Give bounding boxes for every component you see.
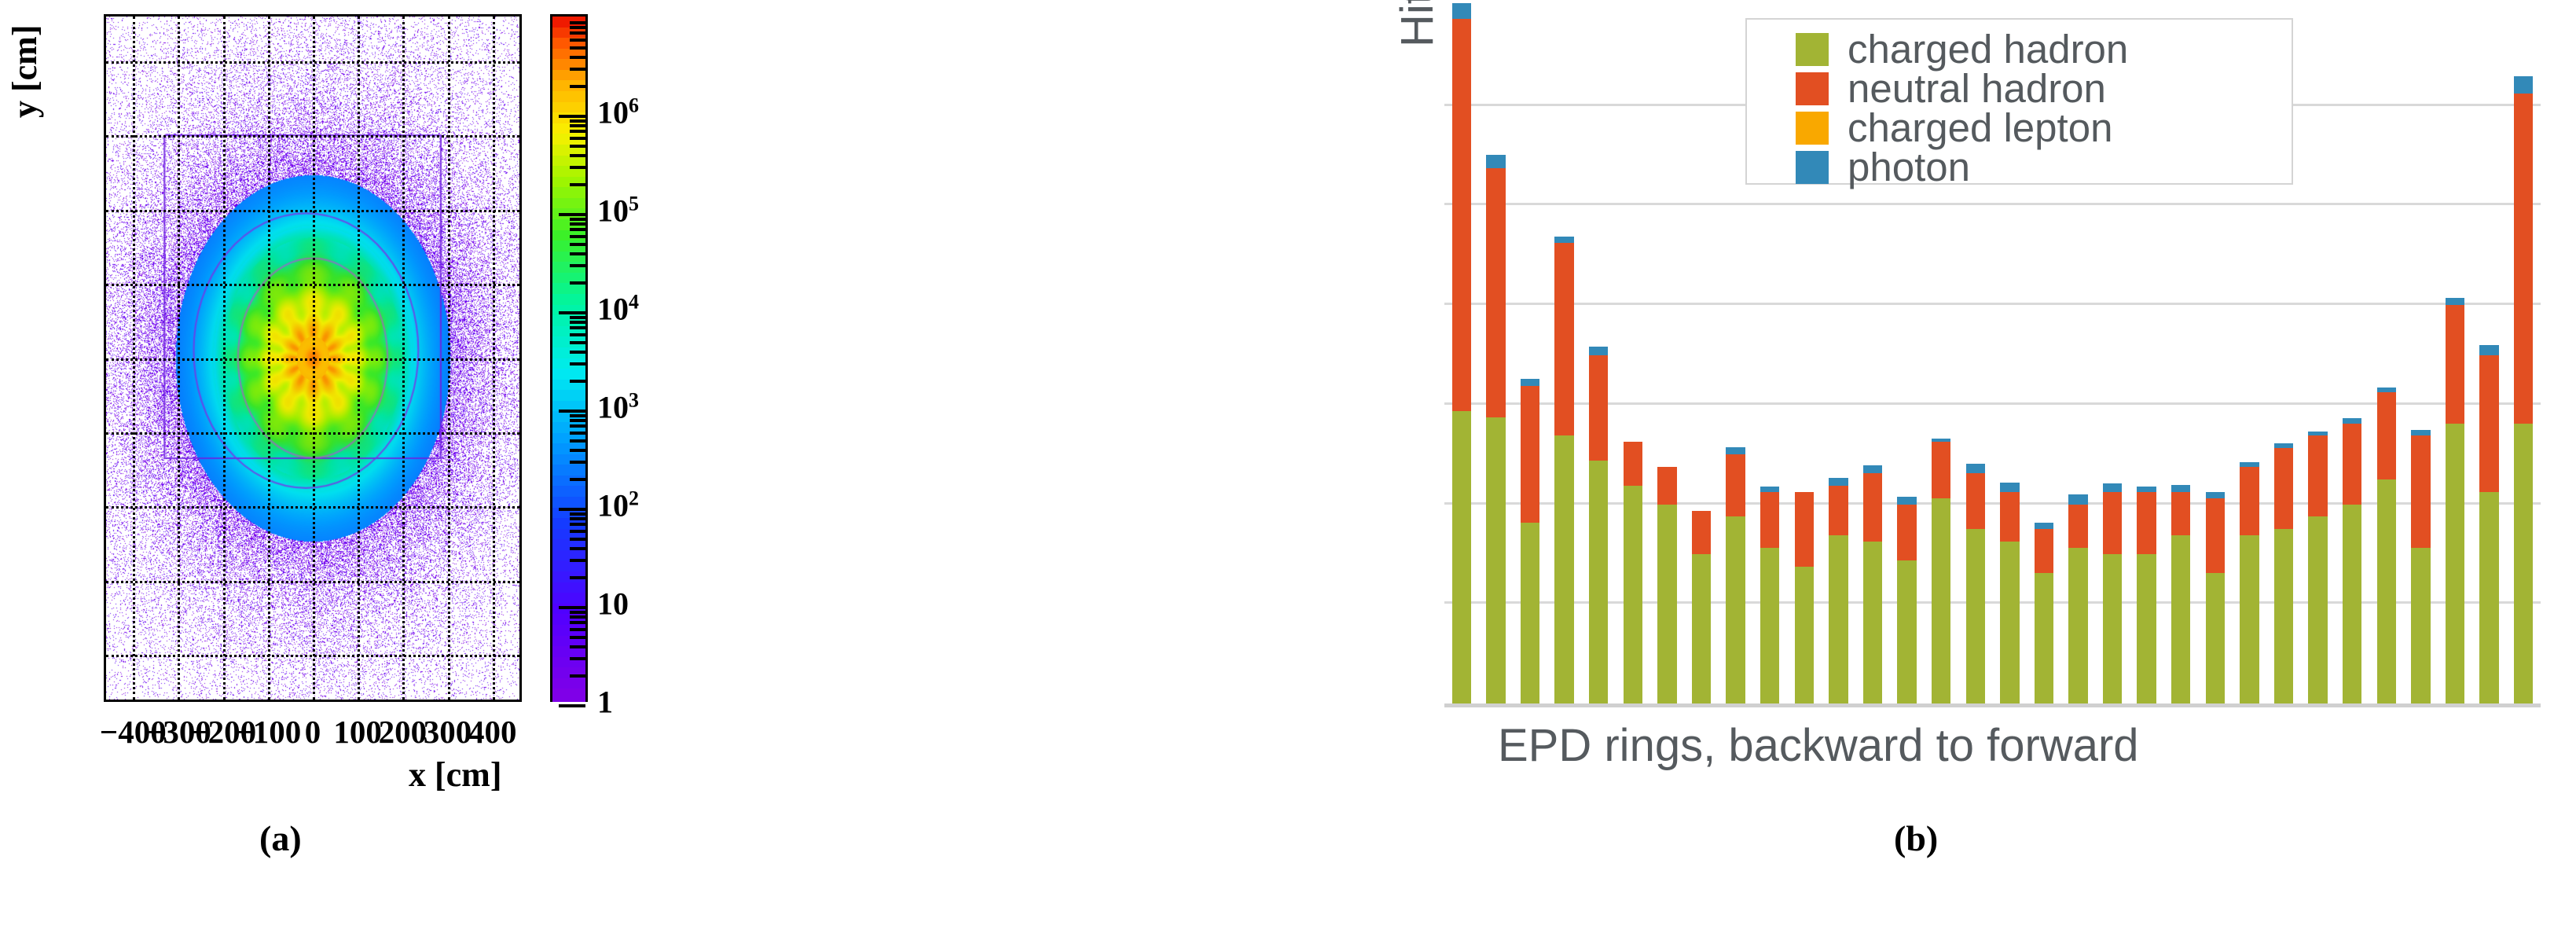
- colorbar-tick-minor: [570, 56, 585, 59]
- bar-segment-charged-hadron: [2479, 492, 2498, 703]
- colorbar-tick-minor: [570, 222, 585, 226]
- bar-segment-neutral-hadron: [2171, 492, 2190, 535]
- grid-line-v: [358, 17, 360, 700]
- bar-segment-neutral-hadron: [2308, 435, 2327, 516]
- colorbar-tick-minor: [570, 351, 585, 354]
- panel-b-y-axis-title: Hits by primary [a.u.]: [1391, 0, 1444, 47]
- colorbar-tick-minor: [570, 228, 585, 231]
- bar-segment-charged-hadron: [2035, 573, 2053, 703]
- bar-segment-photon: [1726, 447, 1745, 455]
- stacked-bar: [2377, 388, 2396, 703]
- grid-line-v: [268, 17, 270, 700]
- colorbar-tick-minor: [570, 21, 585, 24]
- bar-segment-neutral-hadron: [2103, 492, 2122, 554]
- colorbar-tick-minor: [570, 628, 585, 631]
- grid-line-v: [313, 17, 315, 700]
- stacked-bar: [2171, 485, 2190, 703]
- bar-segment-neutral-hadron: [1657, 467, 1676, 505]
- stacked-bar: [1452, 3, 1471, 703]
- bar-slot: [1684, 6, 1719, 703]
- bar-segment-charged-hadron: [2137, 554, 2156, 703]
- colorbar-tick-minor: [570, 517, 585, 520]
- bar-slot: [1616, 6, 1650, 703]
- bar-segment-charged-hadron: [2068, 548, 2087, 703]
- bar-segment-neutral-hadron: [1966, 473, 1985, 529]
- colorbar-tick-minor: [570, 419, 585, 422]
- legend-item-charged-hadron: charged hadron: [1796, 31, 2292, 68]
- colorbar-tick-major: [559, 311, 585, 314]
- bar-segment-neutral-hadron: [2479, 355, 2498, 492]
- figure-root: y [cm] x [cm] 4003002001000−100−200−300−…: [0, 0, 2576, 933]
- grid-line-v: [178, 17, 180, 700]
- bar-segment-charged-hadron: [1521, 523, 1539, 703]
- colorbar-tick-minor: [570, 439, 585, 443]
- stacked-bar: [2000, 483, 2019, 703]
- colorbar-tick-minor: [570, 326, 585, 329]
- bar-segment-neutral-hadron: [2000, 492, 2019, 542]
- legend-item-charged-lepton: charged lepton: [1796, 109, 2292, 146]
- colorbar-tick-major: [559, 410, 585, 413]
- grid-line-v: [448, 17, 450, 700]
- colorbar-tick-minor: [570, 145, 585, 148]
- stacked-bar: [2240, 462, 2259, 703]
- bar-slot: [2301, 6, 2336, 703]
- bar-segment-photon: [2479, 345, 2498, 355]
- bar-segment-charged-hadron: [2103, 554, 2122, 703]
- stacked-bar: [1554, 237, 1573, 703]
- bar-segment-neutral-hadron: [1452, 19, 1471, 411]
- colorbar-tick-minor: [570, 530, 585, 533]
- bar-segment-charged-hadron: [1554, 435, 1573, 703]
- bar-segment-charged-hadron: [1932, 498, 1950, 703]
- colorbar-tick-label: 103: [597, 388, 639, 425]
- bar-slot: [2438, 6, 2472, 703]
- stacked-bar: [2446, 298, 2464, 703]
- bar-segment-charged-hadron: [2274, 529, 2293, 703]
- colorbar-tick-minor: [570, 333, 585, 336]
- bar-segment-photon: [2103, 483, 2122, 492]
- bar-segment-charged-hadron: [1966, 529, 1985, 703]
- bar-segment-charged-hadron: [2171, 535, 2190, 703]
- bar-segment-charged-hadron: [1692, 554, 1711, 703]
- stacked-bar: [1726, 447, 1745, 703]
- stacked-bar: [2274, 443, 2293, 703]
- legend-swatch-charged-hadron: [1796, 33, 1829, 66]
- colorbar-tick-minor: [570, 380, 585, 383]
- bar-segment-neutral-hadron: [1692, 511, 1711, 554]
- grid-line-v: [223, 17, 226, 700]
- colorbar-tick-label: 105: [597, 192, 639, 229]
- colorbar-tick-minor: [570, 243, 585, 246]
- stacked-bar: [2479, 345, 2498, 703]
- bar-segment-neutral-hadron: [1726, 454, 1745, 516]
- bar-segment-photon: [2411, 430, 2430, 436]
- bar-segment-neutral-hadron: [2446, 305, 2464, 423]
- colorbar-tick-minor: [570, 645, 585, 648]
- bar-segment-photon: [2137, 487, 2156, 492]
- bar-segment-charged-hadron: [1726, 516, 1745, 703]
- colorbar-tick-label: 1: [597, 684, 613, 721]
- legend-item-photon: photon: [1796, 149, 2292, 185]
- bar-segment-neutral-hadron: [2068, 505, 2087, 548]
- bar-segment-photon: [1966, 464, 1985, 473]
- bar-segment-neutral-hadron: [2206, 498, 2225, 573]
- bar-slot: [1650, 6, 1685, 703]
- x-tick-label: 400: [468, 713, 517, 751]
- panel-b-legend: charged hadron neutral hadron charged le…: [1745, 18, 2293, 185]
- bar-segment-neutral-hadron: [2514, 94, 2533, 424]
- colorbar-tick-minor: [570, 235, 585, 238]
- stacked-bar: [1966, 464, 1985, 703]
- colorbar-tick-major: [559, 606, 585, 609]
- colorbar-tick-minor: [570, 154, 585, 157]
- bar-segment-photon: [2171, 485, 2190, 492]
- bar-segment-neutral-hadron: [1486, 168, 1505, 417]
- x-tick-label: −100: [234, 713, 301, 751]
- bar-segment-photon: [1452, 3, 1471, 19]
- bar-segment-photon: [1486, 155, 1505, 168]
- stacked-bar: [1521, 379, 1539, 703]
- bar-segment-charged-hadron: [1795, 567, 1814, 703]
- colorbar-tick-minor: [570, 183, 585, 186]
- stacked-bar: [2343, 418, 2361, 703]
- stacked-bar: [1589, 347, 1608, 703]
- stacked-bar: [1657, 467, 1676, 703]
- bar-segment-charged-hadron: [2240, 535, 2259, 703]
- bar-segment-neutral-hadron: [1521, 386, 1539, 523]
- bar-segment-neutral-hadron: [2035, 529, 2053, 572]
- colorbar-tick-major: [559, 704, 585, 707]
- stacked-bar: [1897, 497, 1916, 703]
- bar-slot: [1547, 6, 1582, 703]
- colorbar-tick-minor: [570, 362, 585, 365]
- bar-segment-charged-hadron: [1829, 535, 1848, 703]
- bar-segment-neutral-hadron: [2240, 467, 2259, 535]
- bar-slot: [2404, 6, 2438, 703]
- bar-segment-charged-hadron: [2308, 516, 2327, 703]
- colorbar-tick-minor: [570, 657, 585, 660]
- colorbar-tick-minor: [570, 39, 585, 42]
- bar-segment-charged-hadron: [1624, 486, 1642, 703]
- bar-segment-charged-hadron: [2000, 542, 2019, 703]
- stacked-bar: [2514, 76, 2533, 703]
- stacked-bar: [1863, 465, 1882, 703]
- colorbar-tick-minor: [570, 461, 585, 464]
- bar-slot: [1581, 6, 1616, 703]
- colorbar-tick-minor: [570, 31, 585, 35]
- colorbar-tick-minor: [570, 130, 585, 133]
- bar-segment-photon: [1897, 497, 1916, 505]
- colorbar-tick-minor: [570, 68, 585, 71]
- colorbar-tick-major: [559, 115, 585, 118]
- legend-swatch-photon: [1796, 151, 1829, 184]
- legend-swatch-charged-lepton: [1796, 112, 1829, 145]
- bar-segment-neutral-hadron: [1624, 442, 1642, 485]
- bar-segment-charged-hadron: [1657, 505, 1676, 703]
- colorbar-tick-minor: [570, 674, 585, 678]
- bar-slot: [2369, 6, 2404, 703]
- legend-item-neutral-hadron: neutral hadron: [1796, 70, 2292, 107]
- legend-swatch-neutral-hadron: [1796, 72, 1829, 105]
- stacked-bar: [2308, 432, 2327, 703]
- panel-b-plot-area: charged hadron neutral hadron charged le…: [1444, 6, 2541, 707]
- bar-segment-neutral-hadron: [1589, 355, 1608, 461]
- bar-segment-photon: [1589, 347, 1608, 354]
- colorbar-tick-minor: [570, 523, 585, 526]
- bar-segment-photon: [1554, 237, 1573, 243]
- colorbar-tick-minor: [570, 264, 585, 267]
- bar-segment-neutral-hadron: [2411, 435, 2430, 548]
- colorbar-tick-minor: [570, 252, 585, 255]
- bar-segment-neutral-hadron: [1897, 505, 1916, 560]
- bar-segment-neutral-hadron: [1932, 442, 1950, 498]
- legend-label-photon: photon: [1848, 144, 1970, 190]
- colorbar-tick-minor: [570, 432, 585, 435]
- colorbar-tick-label: 102: [597, 487, 639, 523]
- colorbar-tick-minor: [570, 621, 585, 624]
- bar-segment-charged-hadron: [1452, 411, 1471, 703]
- colorbar-tick-minor: [570, 559, 585, 562]
- grid-line-v: [493, 17, 495, 700]
- colorbar-tick-minor: [570, 636, 585, 639]
- bar-segment-charged-hadron: [2343, 505, 2361, 703]
- colorbar-tick-minor: [570, 611, 585, 614]
- bar-segment-photon: [2206, 492, 2225, 498]
- bar-segment-neutral-hadron: [2343, 424, 2361, 505]
- bar-segment-charged-hadron: [2446, 424, 2464, 703]
- bar-segment-neutral-hadron: [1760, 492, 1779, 548]
- bar-segment-neutral-hadron: [1829, 486, 1848, 535]
- panel-b: Hits by primary [a.u.] charged hadron ne…: [1273, 0, 2576, 933]
- stacked-bar: [1932, 439, 1950, 703]
- bar-segment-photon: [2068, 494, 2087, 505]
- stacked-bar: [2103, 483, 2122, 703]
- stacked-bar: [2411, 430, 2430, 703]
- bar-segment-charged-hadron: [1589, 461, 1608, 703]
- bar-segment-photon: [2035, 523, 2053, 529]
- colorbar-tick-minor: [570, 26, 585, 29]
- colorbar-tick-label: 104: [597, 290, 639, 327]
- x-tick-label: 0: [305, 713, 321, 751]
- colorbar-tick-minor: [570, 547, 585, 550]
- colorbar-tick-minor: [570, 85, 585, 88]
- bar-slot: [1513, 6, 1547, 703]
- bar-segment-photon: [1521, 379, 1539, 387]
- bar-segment-charged-hadron: [1863, 542, 1882, 703]
- colorbar-tick-minor: [570, 46, 585, 50]
- bar-segment-neutral-hadron: [1863, 473, 1882, 542]
- bar-slot: [2506, 6, 2541, 703]
- bar-segment-charged-hadron: [1760, 548, 1779, 703]
- colorbar-segment: [552, 689, 585, 701]
- stacked-bar: [2206, 492, 2225, 703]
- bar-segment-photon: [2446, 298, 2464, 306]
- bar-segment-charged-hadron: [2514, 424, 2533, 703]
- panel-a-caption: (a): [259, 817, 302, 859]
- panel-b-caption: (b): [1894, 817, 1938, 859]
- bar-segment-photon: [1863, 465, 1882, 473]
- x-tick-label: 100: [333, 713, 382, 751]
- bar-segment-neutral-hadron: [2377, 392, 2396, 479]
- bar-segment-charged-hadron: [2206, 573, 2225, 703]
- colorbar-tick-minor: [570, 321, 585, 324]
- bar-slot: [1479, 6, 1514, 703]
- colorbar-tick-minor: [570, 576, 585, 579]
- colorbar-tick-minor: [570, 615, 585, 619]
- stacked-bar: [1624, 442, 1642, 703]
- colorbar-tick-minor: [570, 137, 585, 140]
- bar-slot: [1444, 6, 1479, 703]
- bar-segment-photon: [2514, 76, 2533, 94]
- bar-segment-charged-hadron: [2377, 479, 2396, 703]
- grid-line-v: [402, 17, 405, 700]
- bar-segment-charged-hadron: [2411, 548, 2430, 703]
- colorbar-tick-label: 106: [597, 94, 639, 130]
- x-tick-label: 200: [379, 713, 427, 751]
- stacked-bar: [1795, 492, 1814, 703]
- bar-segment-neutral-hadron: [2137, 492, 2156, 554]
- bar-segment-neutral-hadron: [1795, 492, 1814, 567]
- bar-segment-photon: [1829, 478, 1848, 486]
- bar-segment-photon: [2000, 483, 2019, 492]
- colorbar-tick-minor: [570, 316, 585, 319]
- colorbar-tick-label: 10: [597, 586, 629, 623]
- panel-a: y [cm] x [cm] 4003002001000−100−200−300−…: [0, 0, 1273, 933]
- stacked-bar: [2035, 523, 2053, 703]
- x-tick-label: 300: [424, 713, 472, 751]
- panel-a-plot-area: [104, 14, 522, 702]
- colorbar-tick-major: [559, 213, 585, 216]
- colorbar-tick-minor: [570, 218, 585, 221]
- colorbar-tick-minor: [570, 414, 585, 417]
- colorbar-tick-minor: [570, 449, 585, 452]
- bar-segment-charged-hadron: [1486, 417, 1505, 703]
- colorbar-tick-minor: [570, 512, 585, 516]
- colorbar-tick-minor: [570, 124, 585, 127]
- bar-slot: [2472, 6, 2507, 703]
- bar-segment-neutral-hadron: [2274, 448, 2293, 529]
- panel-a-y-axis-title: y [cm]: [5, 25, 45, 119]
- colorbar-tick-minor: [570, 166, 585, 169]
- colorbar-tick-minor: [570, 538, 585, 541]
- stacked-bar: [1486, 155, 1505, 704]
- panel-a-colorbar: [550, 14, 588, 702]
- stacked-bar: [2137, 487, 2156, 703]
- colorbar-tick-minor: [570, 478, 585, 481]
- panel-b-x-axis-title: EPD rings, backward to forward: [1498, 719, 2139, 772]
- bar-slot: [2335, 6, 2369, 703]
- stacked-bar: [1692, 511, 1711, 704]
- panel-b-baseline-axis: [1444, 703, 2541, 707]
- bar-segment-charged-hadron: [1897, 560, 1916, 703]
- colorbar-tick-major: [559, 508, 585, 511]
- stacked-bar: [1760, 487, 1779, 703]
- bar-segment-neutral-hadron: [1554, 243, 1573, 436]
- colorbar-tick-minor: [570, 281, 585, 285]
- colorbar-tick-minor: [570, 341, 585, 344]
- colorbar-tick-minor: [570, 119, 585, 123]
- panel-a-x-axis-title: x [cm]: [409, 755, 502, 795]
- colorbar-tick-minor: [570, 424, 585, 428]
- grid-line-v: [133, 17, 135, 700]
- stacked-bar: [1829, 478, 1848, 703]
- stacked-bar: [2068, 494, 2087, 703]
